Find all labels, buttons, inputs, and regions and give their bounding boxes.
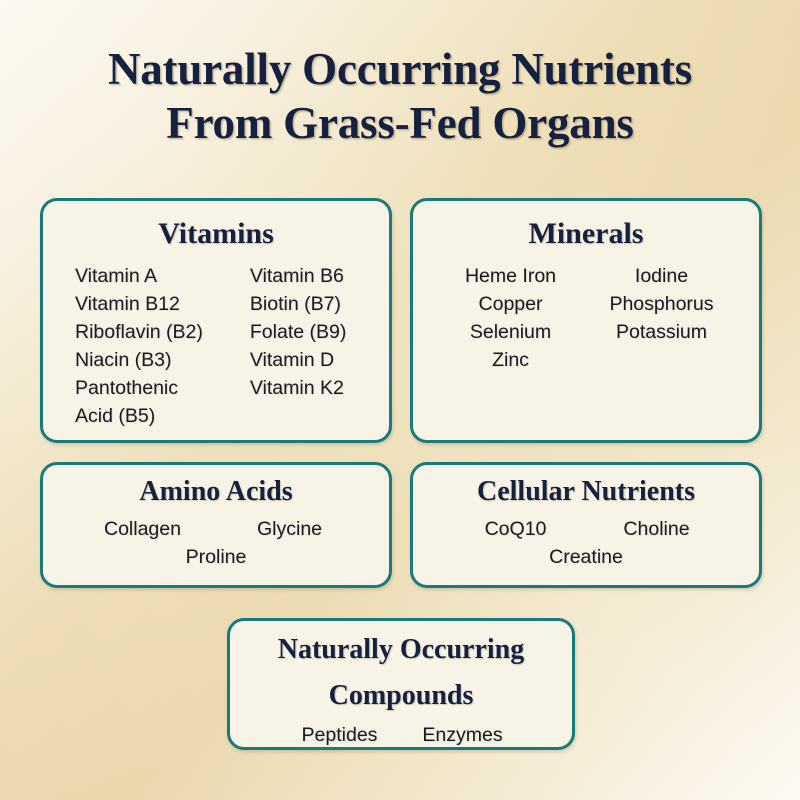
list-item: Vitamin B12 bbox=[75, 290, 250, 318]
list-item: Potassium bbox=[586, 318, 737, 346]
list-item: Peptides bbox=[278, 721, 401, 749]
card-vitamins: Vitamins Vitamin A Vitamin B12 Riboflavi… bbox=[40, 198, 392, 443]
card-minerals-column-right: Iodine Phosphorus Potassium bbox=[586, 262, 737, 374]
card-cellular-nutrients-title: Cellular Nutrients bbox=[413, 475, 759, 509]
card-minerals-column-left: Heme Iron Copper Selenium Zinc bbox=[435, 262, 586, 374]
card-cellular-nutrients-row-1: CoQ10 Choline bbox=[413, 515, 759, 543]
list-item: Zinc bbox=[435, 346, 586, 374]
card-compounds-title-line-1: Naturally Occurring bbox=[230, 633, 572, 667]
card-vitamins-columns: Vitamin A Vitamin B12 Riboflavin (B2) Ni… bbox=[43, 262, 389, 430]
card-amino-acids-row-2: Proline bbox=[43, 543, 389, 571]
card-vitamins-column-right: Vitamin B6 Biotin (B7) Folate (B9) Vitam… bbox=[250, 262, 389, 430]
list-item: Enzymes bbox=[401, 721, 524, 749]
list-item: Copper bbox=[435, 290, 586, 318]
list-item: Choline bbox=[586, 515, 727, 543]
card-minerals-title: Minerals bbox=[413, 215, 759, 253]
list-item: Iodine bbox=[586, 262, 737, 290]
list-item: Biotin (B7) bbox=[250, 290, 389, 318]
list-item: Glycine bbox=[216, 515, 363, 543]
card-amino-acids-title: Amino Acids bbox=[43, 475, 389, 509]
list-item: Vitamin B6 bbox=[250, 262, 389, 290]
list-item: Heme Iron bbox=[435, 262, 586, 290]
card-compounds-row-1: Peptides Enzymes bbox=[230, 721, 572, 749]
list-item: Riboflavin (B2) bbox=[75, 318, 250, 346]
card-cellular-nutrients-row-2: Creatine bbox=[413, 543, 759, 571]
list-item: Phosphorus bbox=[586, 290, 737, 318]
list-item: Proline bbox=[186, 546, 247, 568]
card-vitamins-column-left: Vitamin A Vitamin B12 Riboflavin (B2) Ni… bbox=[75, 262, 250, 430]
list-item: Creatine bbox=[549, 546, 623, 568]
list-item: Acid (B5) bbox=[75, 402, 250, 430]
card-cellular-nutrients: Cellular Nutrients CoQ10 Choline Creatin… bbox=[410, 462, 762, 588]
list-item: Niacin (B3) bbox=[75, 346, 250, 374]
page-title: Naturally Occurring Nutrients From Grass… bbox=[0, 42, 800, 150]
card-vitamins-title: Vitamins bbox=[43, 215, 389, 253]
list-item: Folate (B9) bbox=[250, 318, 389, 346]
card-naturally-occurring-compounds: Naturally Occurring Compounds Peptides E… bbox=[227, 618, 575, 750]
card-minerals: Minerals Heme Iron Copper Selenium Zinc … bbox=[410, 198, 762, 443]
card-amino-acids-row-1: Collagen Glycine bbox=[43, 515, 389, 543]
list-item: CoQ10 bbox=[445, 515, 586, 543]
page-title-line-2: From Grass-Fed Organs bbox=[0, 96, 800, 150]
page-title-line-1: Naturally Occurring Nutrients bbox=[0, 42, 800, 96]
card-amino-acids: Amino Acids Collagen Glycine Proline bbox=[40, 462, 392, 588]
list-item: Vitamin K2 bbox=[250, 374, 389, 402]
list-item: Collagen bbox=[69, 515, 216, 543]
card-minerals-columns: Heme Iron Copper Selenium Zinc Iodine Ph… bbox=[413, 262, 759, 374]
list-item: Pantothenic bbox=[75, 374, 250, 402]
list-item: Vitamin A bbox=[75, 262, 250, 290]
card-compounds-title-line-2: Compounds bbox=[230, 679, 572, 713]
list-item: Vitamin D bbox=[250, 346, 389, 374]
nutrients-infographic: Naturally Occurring Nutrients From Grass… bbox=[0, 0, 800, 800]
list-item: Selenium bbox=[435, 318, 586, 346]
